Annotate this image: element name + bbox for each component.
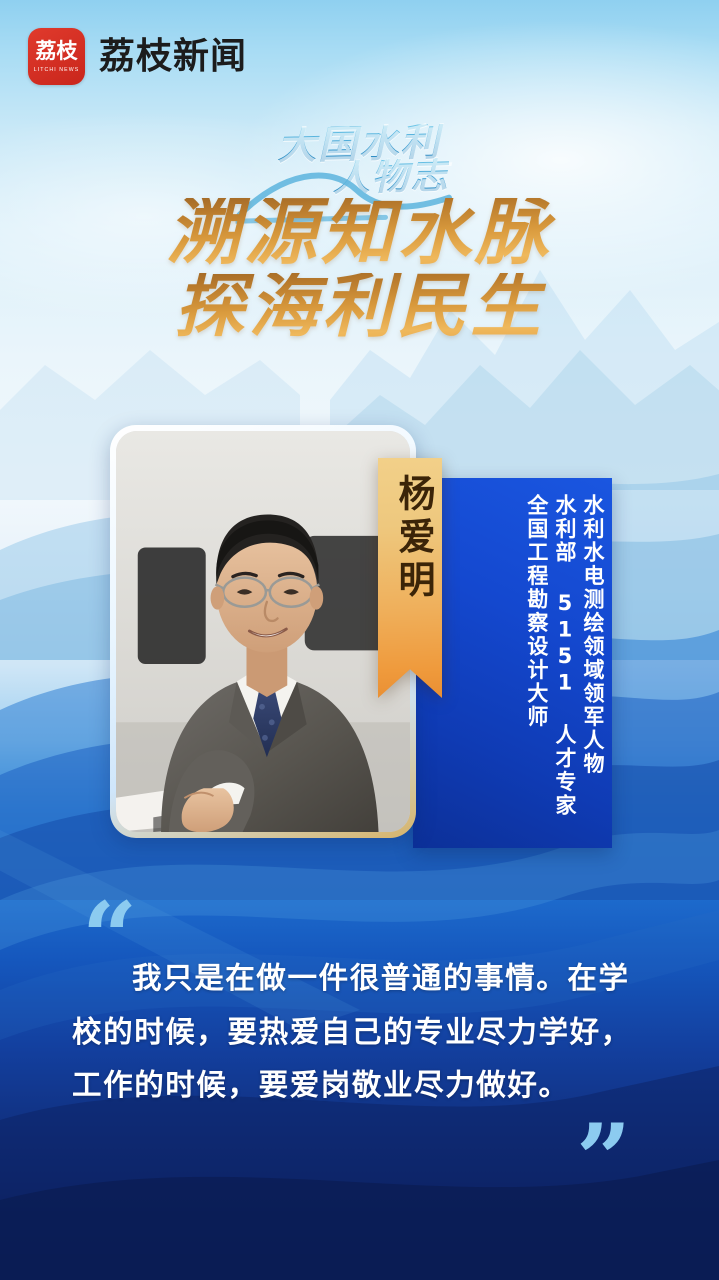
portrait-illustration [116, 431, 410, 832]
litchi-news-logo-icon[interactable]: 荔枝 LITCHI NEWS [28, 28, 85, 85]
main-title: 溯源知水脉 探海利民生 [0, 198, 719, 338]
credentials-columns: 全国工程勘察设计大师 水利部 5151 人才专家 水利水电测绘领域领军人物 [526, 494, 604, 834]
subject-name: 杨爱明 [388, 474, 432, 603]
credential-item-2: 水利部 5151 人才专家 [554, 494, 576, 834]
main-title-line1: 溯源知水脉 [0, 198, 719, 267]
credentials-panel: 全国工程勘察设计大师 水利部 5151 人才专家 水利水电测绘领域领军人物 [413, 478, 612, 848]
portrait-frame [110, 425, 416, 838]
logo-en-text: LITCHI NEWS [34, 67, 80, 73]
quote-text: 我只是在做一件很普通的事情。在学校的时候，要热爱自己的专业尽力学好，工作的时候，… [72, 952, 648, 1113]
name-ribbon: 杨爱明 [378, 458, 442, 698]
logo-cn-text: 荔枝 [36, 41, 78, 62]
poster-canvas: 荔枝 LITCHI NEWS 荔枝新闻 大国水利 人物志 溯源知水脉 探海利民生… [0, 0, 719, 1280]
title-block: 大国水利 人物志 溯源知水脉 探海利民生 [0, 126, 719, 338]
brand-header: 荔枝 LITCHI NEWS 荔枝新闻 [28, 28, 247, 85]
portrait-photo [116, 431, 410, 832]
quote-close-mark: ” [576, 1112, 631, 1208]
credential-item-1: 水利水电测绘领域领军人物 [582, 494, 604, 834]
brand-name-text: 荔枝新闻 [99, 39, 247, 75]
main-title-line2: 探海利民生 [0, 273, 719, 339]
credential-item-3: 全国工程勘察设计大师 [526, 494, 548, 834]
series-title: 大国水利 人物志 [269, 124, 450, 199]
